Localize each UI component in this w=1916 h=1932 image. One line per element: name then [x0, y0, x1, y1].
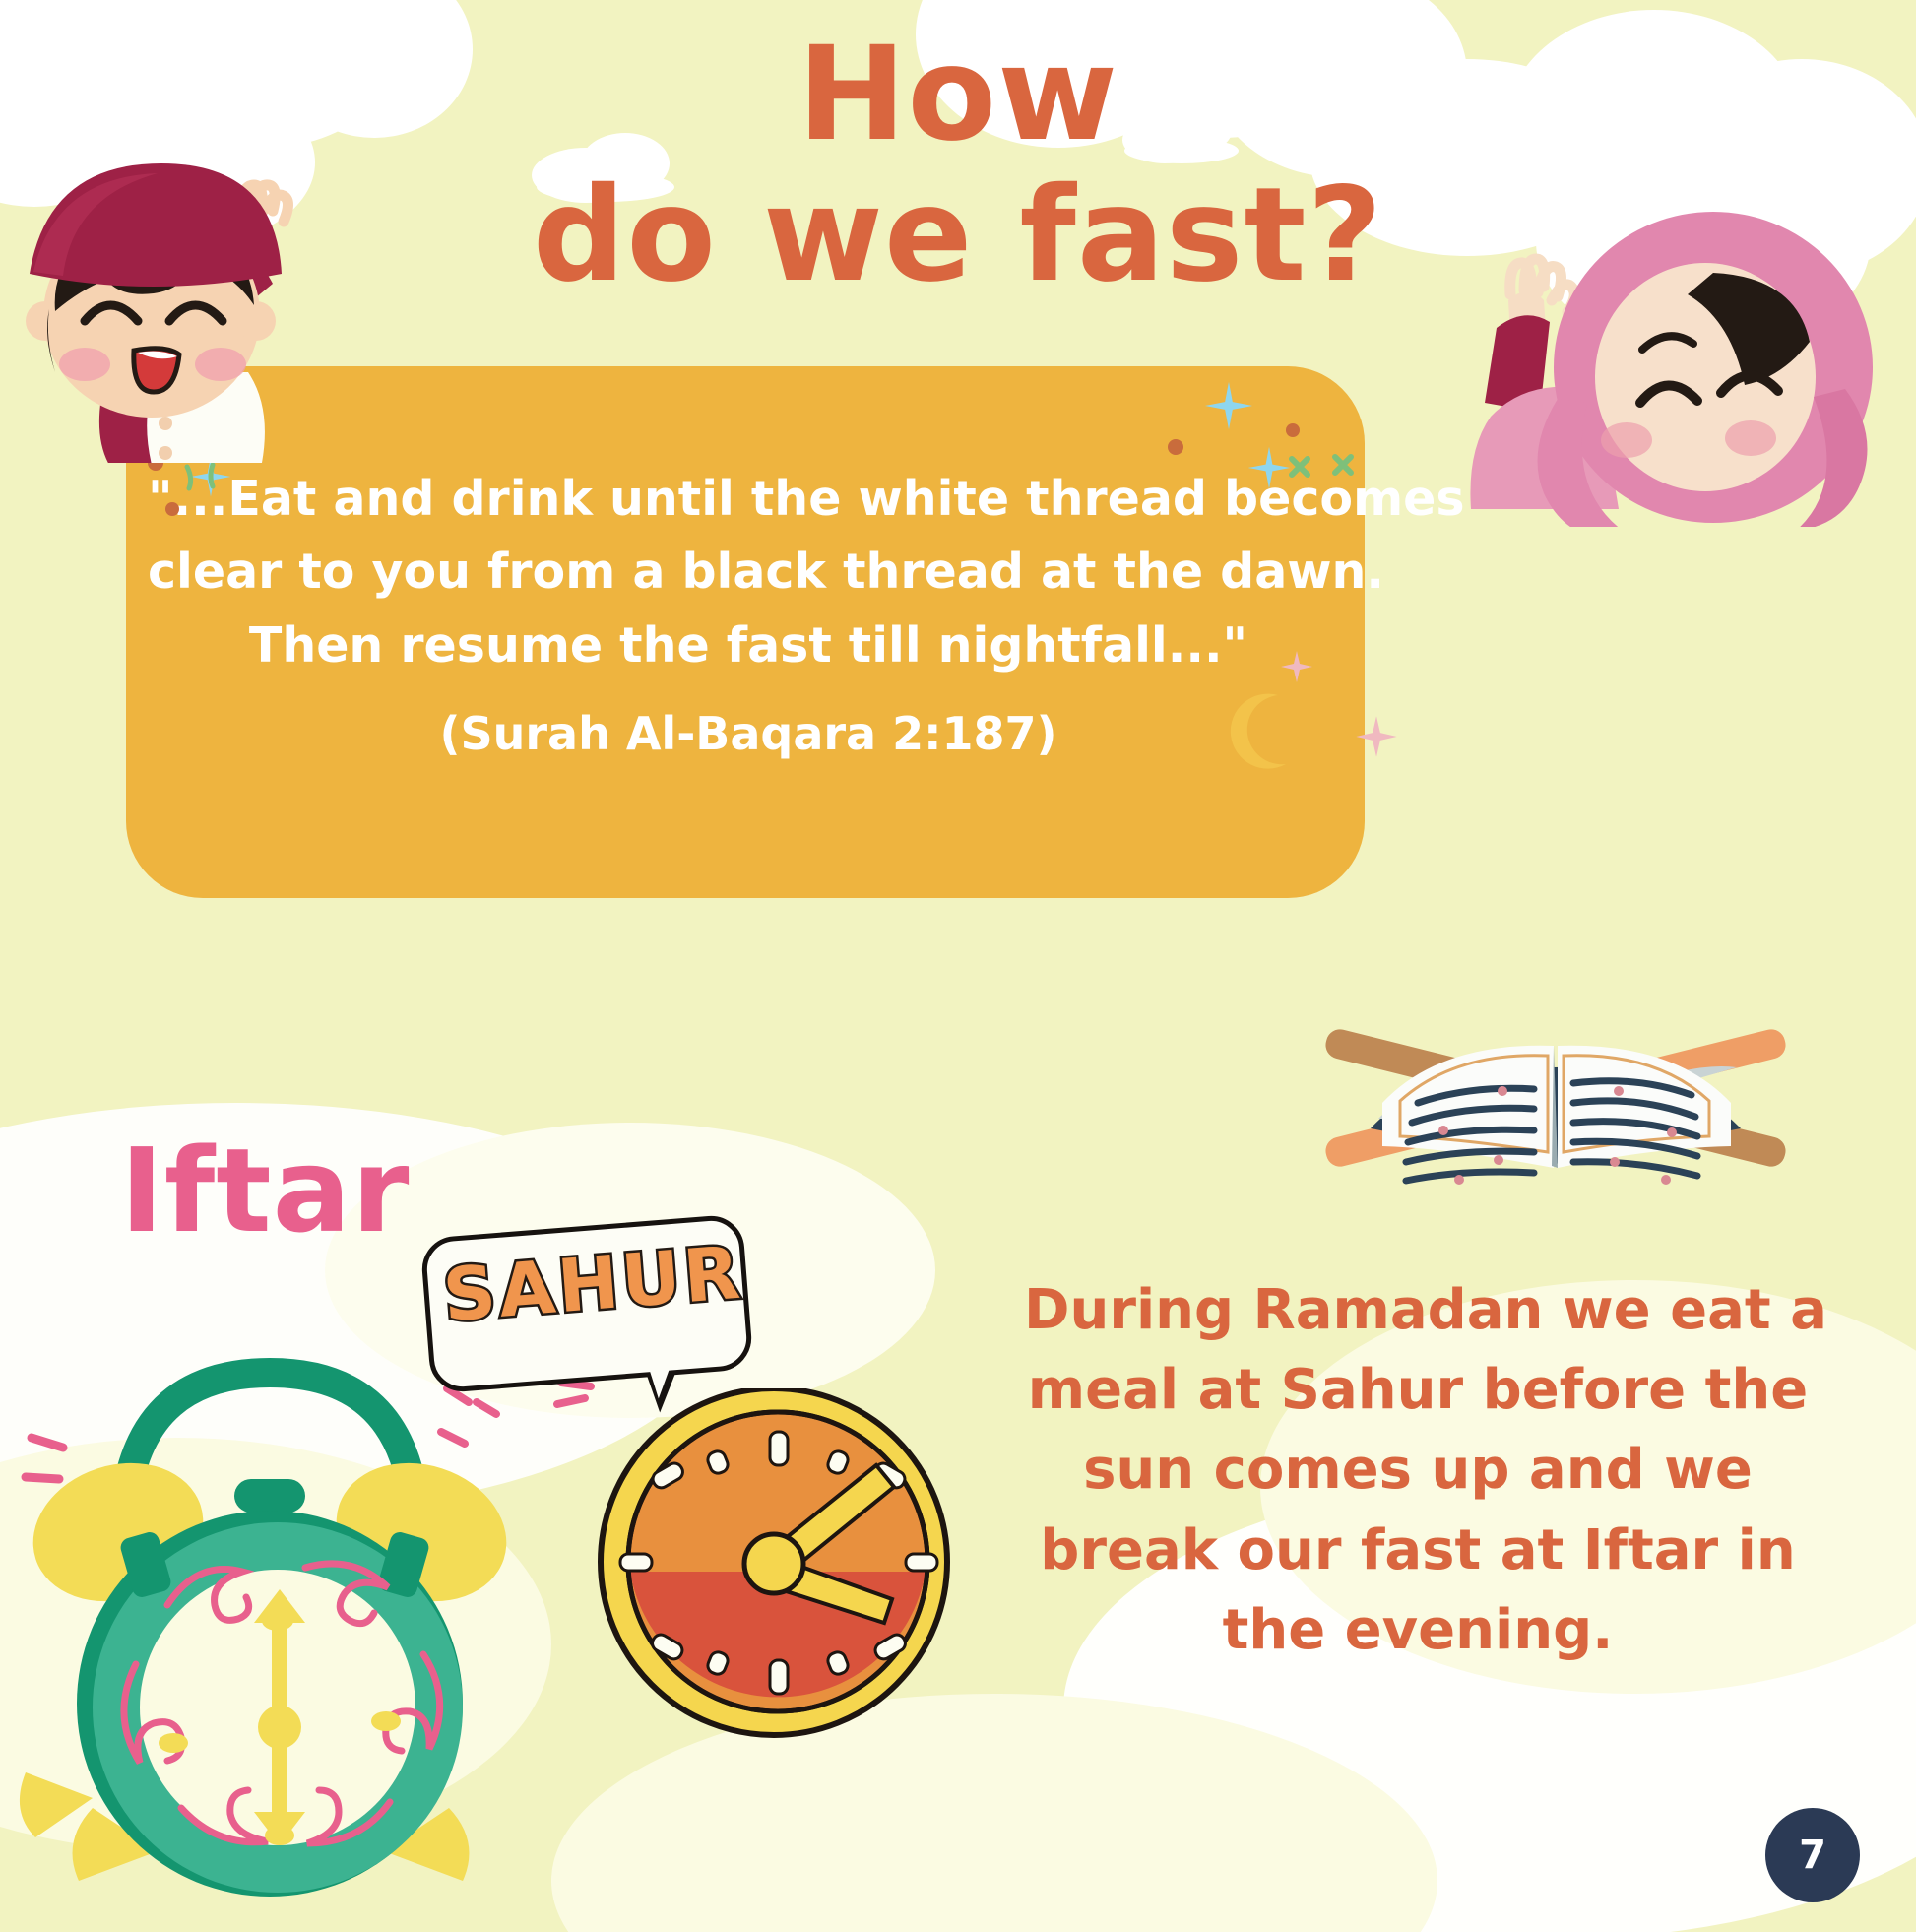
dot-decor-5: [1286, 423, 1300, 437]
body-line-4: break our fast at Iftar in: [1024, 1511, 1812, 1590]
quote-text: "...Eat and drink until the white thread…: [148, 463, 1349, 769]
body-line-2: meal at Sahur before the: [1024, 1350, 1812, 1430]
dot-decor-3: [165, 502, 179, 516]
iftar-label: Iftar: [120, 1123, 410, 1258]
quote-citation: (Surah Al-Baqara 2:187): [148, 700, 1349, 769]
body-line-3: sun comes up and we: [1024, 1430, 1812, 1510]
body-line-5: the evening.: [1024, 1590, 1812, 1670]
boy-character: [0, 128, 315, 468]
girl-character: [1467, 192, 1900, 532]
quran-on-rihal-illustration: [1309, 935, 1802, 1236]
quote-line-2: clear to you from a black thread at the …: [148, 536, 1349, 609]
quote-line-3: Then resume the fast till nightfall...": [148, 610, 1349, 682]
page-number: 7: [1799, 1833, 1826, 1878]
body-line-1: During Ramadan we eat a: [1024, 1270, 1812, 1350]
orange-clock-illustration: [581, 1388, 975, 1748]
alarm-clock-illustration: [10, 1310, 522, 1925]
quote-line-1: "...Eat and drink until the white thread…: [148, 463, 1349, 536]
speech-bubble-tail: [633, 1337, 679, 1400]
page-number-badge: 7: [1765, 1808, 1860, 1902]
dot-decor-4: [1168, 439, 1183, 455]
book-page: How do we fast?: [0, 0, 1916, 1932]
body-paragraph: During Ramadan we eat a meal at Sahur be…: [1024, 1270, 1812, 1670]
